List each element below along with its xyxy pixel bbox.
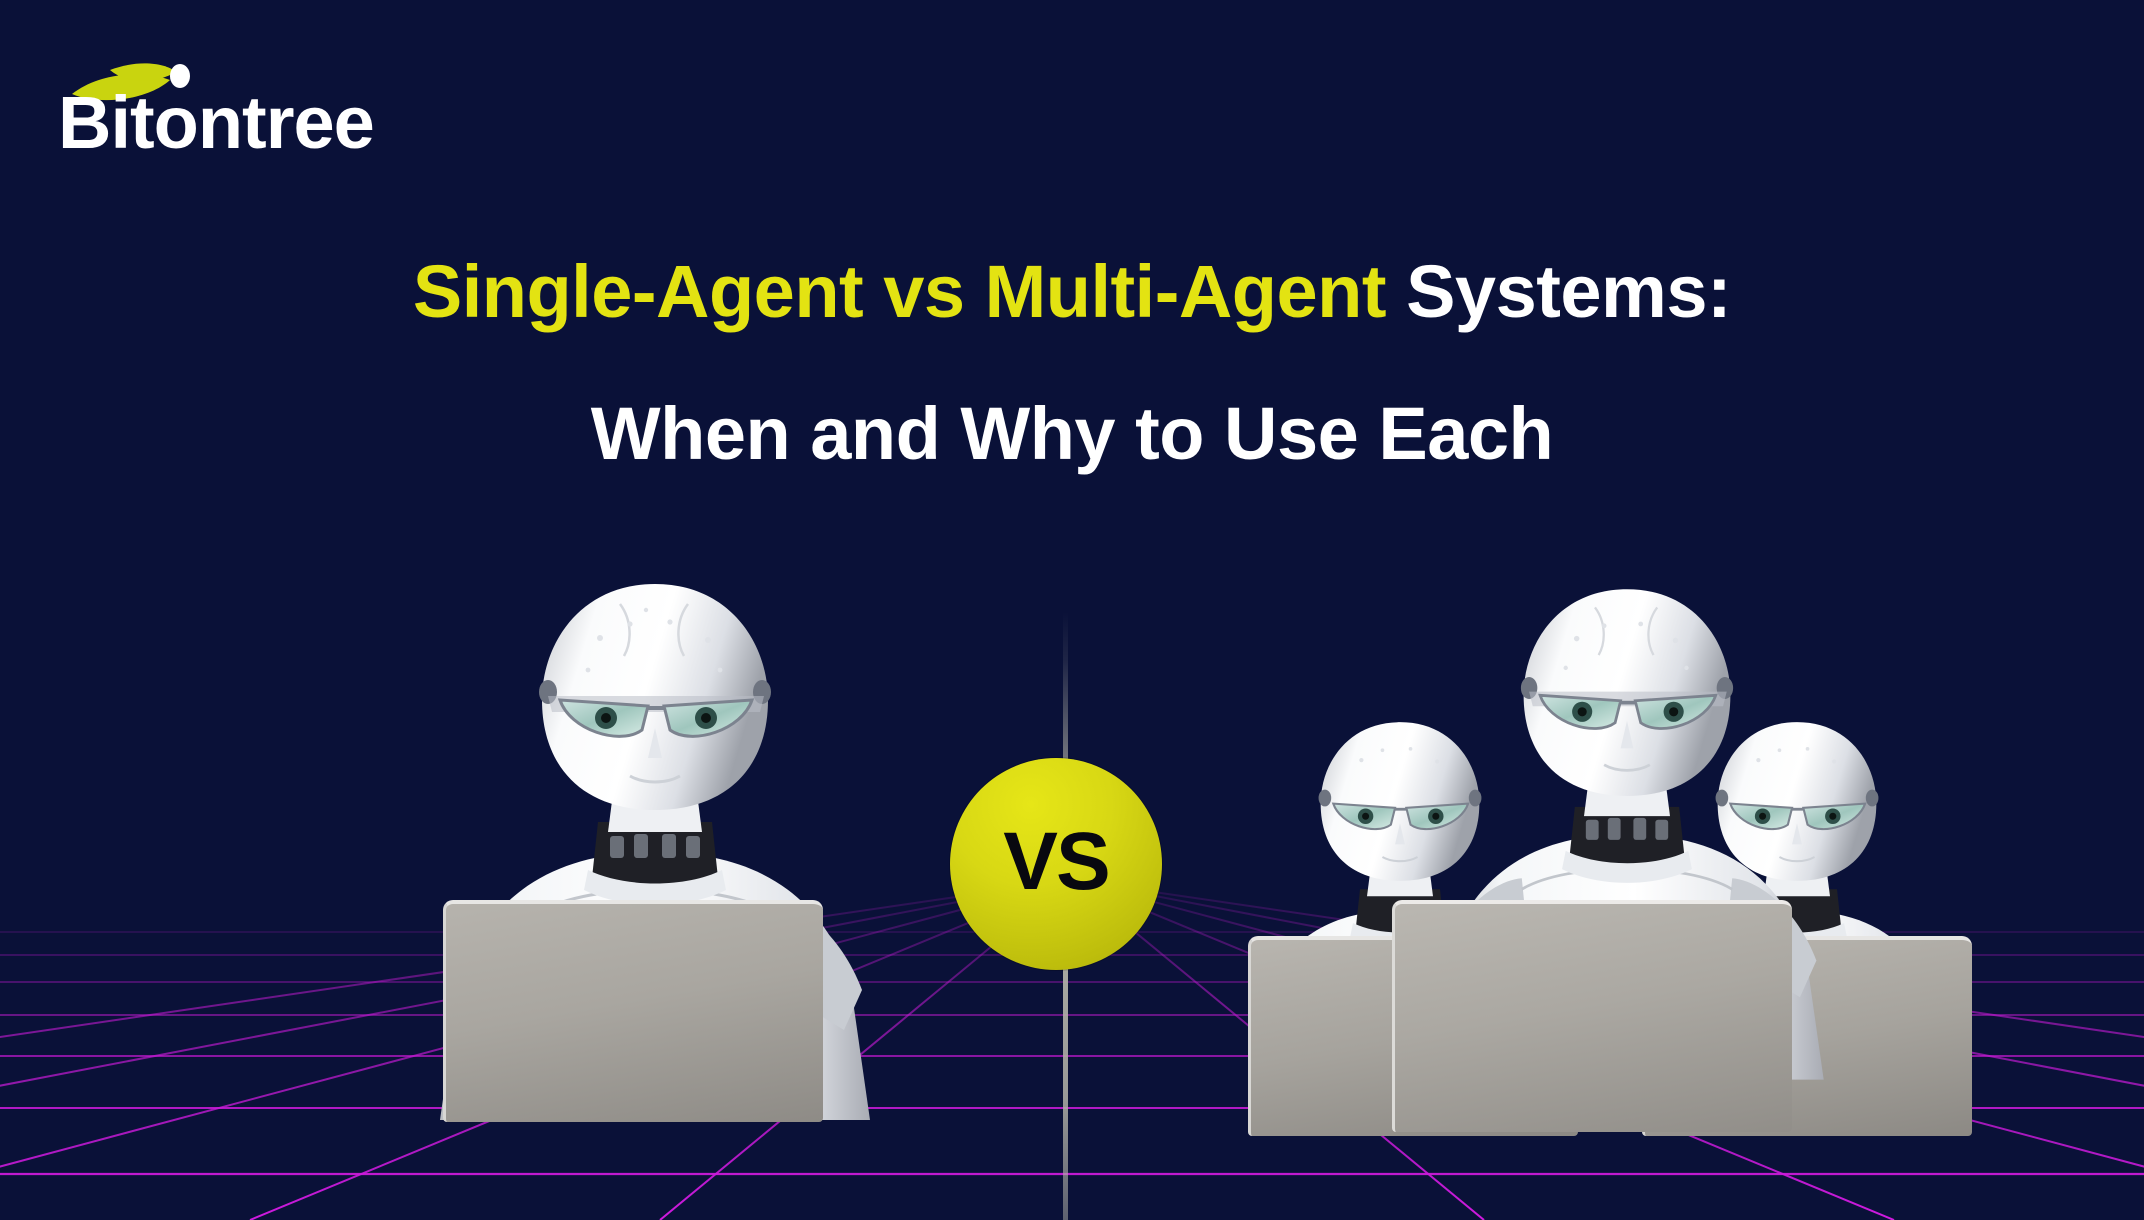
page-title: Single-Agent vs Multi-Agent Systems: Whe… xyxy=(0,255,2144,471)
vs-label: VS xyxy=(1003,821,1108,903)
title-line-2: When and Why to Use Each xyxy=(0,397,2144,471)
brand-logo[interactable]: Bitontree xyxy=(52,48,412,158)
title-plain: Systems: xyxy=(1386,250,1731,333)
laptop-multi-center xyxy=(1392,900,1792,1132)
laptop-single xyxy=(443,900,823,1122)
title-highlight: Single-Agent vs Multi-Agent xyxy=(413,250,1386,333)
title-line-1: Single-Agent vs Multi-Agent Systems: xyxy=(0,255,2144,329)
brand-logo-svg: Bitontree xyxy=(52,48,412,158)
vs-badge: VS xyxy=(950,758,1162,970)
brand-wordmark: Bitontree xyxy=(58,81,374,158)
hero-banner: Bitontree Single-Agent vs Multi-Agent Sy… xyxy=(0,0,2144,1220)
